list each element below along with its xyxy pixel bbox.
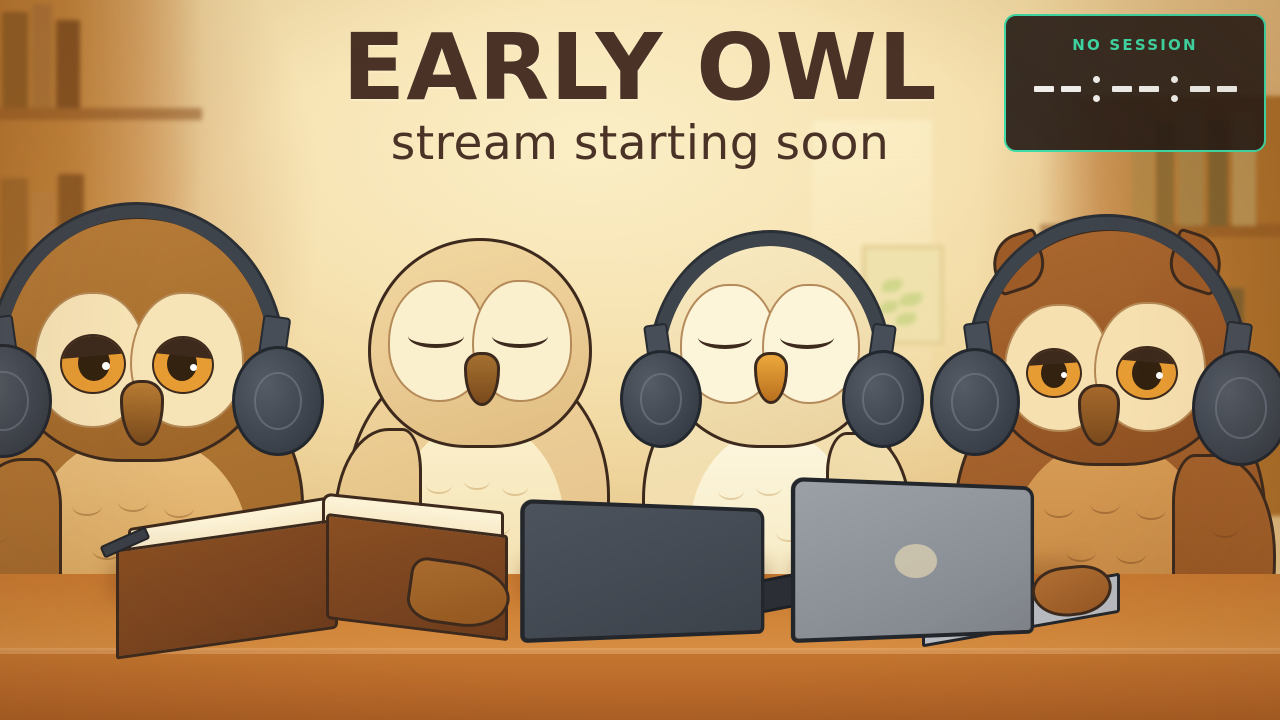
status-badge: NO SESSION xyxy=(1072,36,1197,54)
session-widget[interactable]: NO SESSION xyxy=(1004,14,1266,152)
timer-separator-1 xyxy=(1090,76,1103,102)
timer-minutes xyxy=(1112,86,1159,92)
owl-3-headphone-cup-left xyxy=(620,350,702,448)
owl-2-eye-right xyxy=(492,324,548,348)
owl-3-headphone-band xyxy=(651,233,889,365)
silver-laptop xyxy=(786,474,1116,654)
silver-laptop-lid xyxy=(791,477,1034,643)
owl-3-headphone-cup-right xyxy=(842,350,924,448)
desk-front-panel xyxy=(0,654,1280,720)
timer-separator-2 xyxy=(1168,76,1181,102)
owl-1-headphone-band xyxy=(0,205,283,361)
laptop-logo-icon xyxy=(895,544,937,578)
stream-overlay-stage: EARLY OWL stream starting soon NO SESSIO… xyxy=(0,0,1280,720)
owl-2-eye-left xyxy=(408,324,464,348)
session-timer xyxy=(1034,76,1237,102)
owl-1-headphone-cup-right xyxy=(232,346,324,456)
dark-laptop xyxy=(520,498,810,648)
timer-hours xyxy=(1034,86,1081,92)
open-book xyxy=(108,498,508,648)
owl-4-headphone-cup-left xyxy=(930,348,1020,456)
timer-seconds xyxy=(1190,86,1237,92)
dark-laptop-lid xyxy=(520,499,764,643)
owl-4-headphone-cup-right xyxy=(1192,350,1280,466)
